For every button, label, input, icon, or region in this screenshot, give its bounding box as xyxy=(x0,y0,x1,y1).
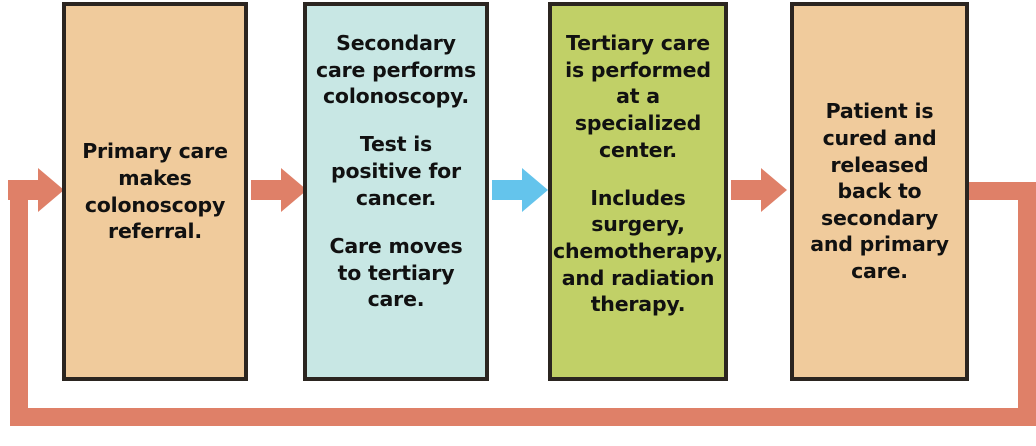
node-secondary-care-text-1: Secondary care performs colonoscopy. xyxy=(315,30,477,110)
feedback-segment-bottom xyxy=(10,408,1036,426)
node-primary-care-text-1: Primary care makes colonoscopy referral. xyxy=(74,138,236,245)
node-secondary-care-text-3: Care moves to tertiary care. xyxy=(315,233,477,313)
node-secondary-care[interactable]: Secondary care performs colonoscopy. Tes… xyxy=(303,2,489,381)
arrowhead-salmon xyxy=(8,168,64,212)
flowchart-canvas: Primary care makes colonoscopy referral.… xyxy=(0,0,1036,446)
arrow-primary-to-secondary xyxy=(251,166,307,214)
node-patient-cured-text-1: Patient is cured and released back to se… xyxy=(802,98,957,284)
arrowhead-blue xyxy=(492,168,548,212)
feedback-segment-left xyxy=(10,190,28,426)
node-tertiary-care[interactable]: Tertiary care is performed at a speciali… xyxy=(548,2,728,381)
arrow-secondary-to-tertiary xyxy=(492,166,548,214)
node-secondary-care-text-2: Test is positive for cancer. xyxy=(315,131,477,211)
node-primary-care[interactable]: Primary care makes colonoscopy referral. xyxy=(62,2,248,381)
feedback-segment-right xyxy=(1018,182,1036,426)
node-patient-cured[interactable]: Patient is cured and released back to se… xyxy=(790,2,969,381)
arrow-tertiary-to-patient xyxy=(731,166,787,214)
node-tertiary-care-text-2: Includes surgery, chemotherapy, and radi… xyxy=(553,185,723,318)
arrowhead-salmon xyxy=(731,168,787,212)
arrow-into-primary-care xyxy=(8,166,64,214)
arrowhead-salmon xyxy=(251,168,307,212)
node-tertiary-care-text-1: Tertiary care is performed at a speciali… xyxy=(560,30,716,163)
